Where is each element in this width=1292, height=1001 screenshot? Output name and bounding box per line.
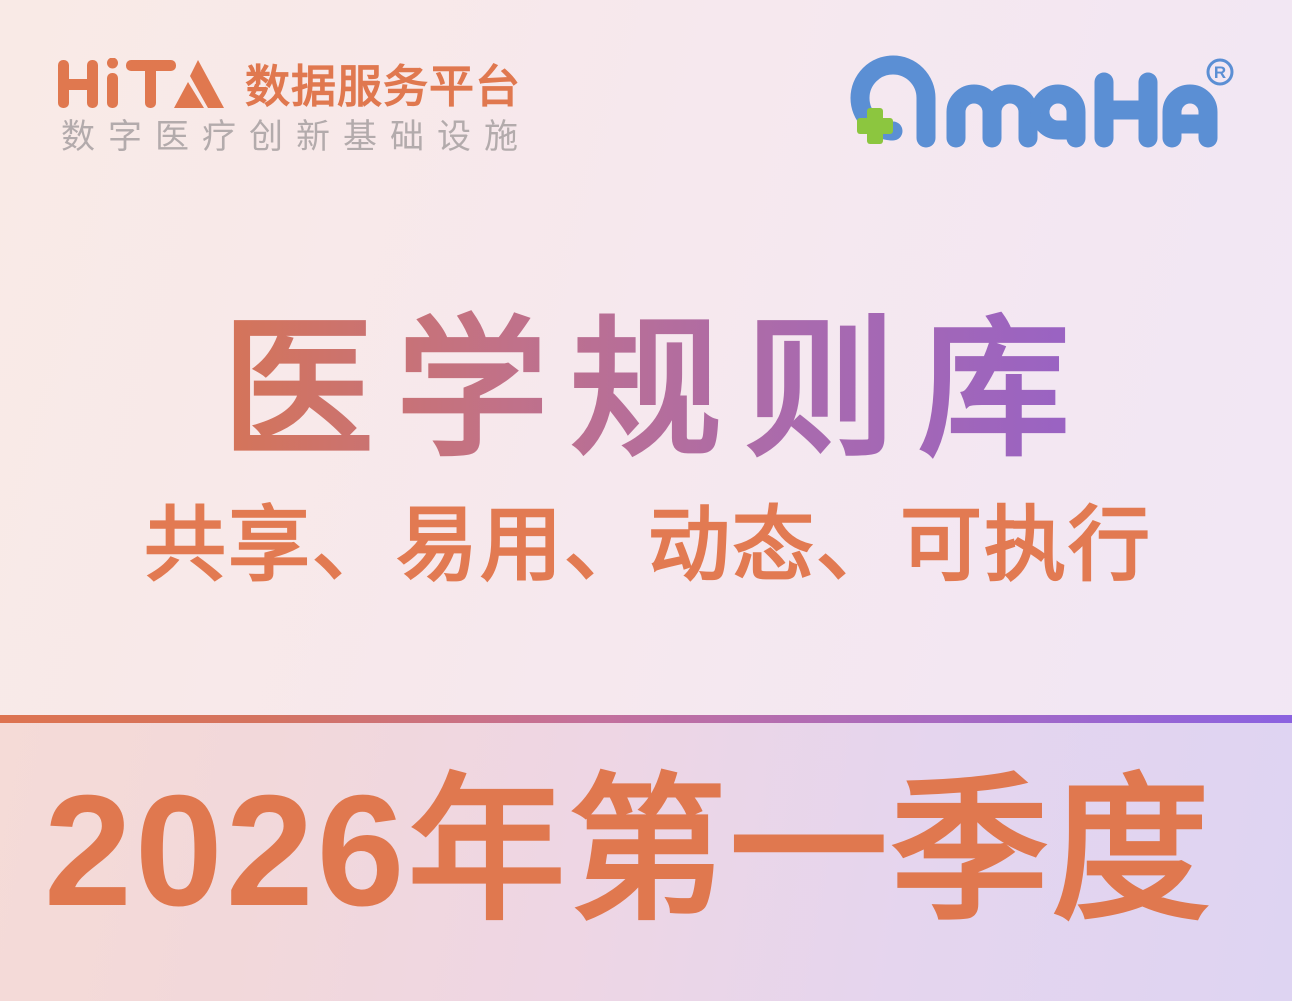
hita-logo-icon (58, 58, 228, 110)
hita-logo-lockup: 数据服务平台 数字医疗创新基础设施 (58, 48, 578, 164)
period-label: 2026年第一季度 (44, 751, 1213, 951)
hita-tagline: 数字医疗创新基础设施 (61, 114, 531, 160)
title-block: 医学规则库 共享、易用、动态、可执行 (0, 300, 1292, 598)
poster-canvas: 数据服务平台 数字医疗创新基础设施 (0, 0, 1292, 1001)
omaha-logo-lockup: R (848, 52, 1248, 162)
omaha-logo-icon: R (848, 52, 1248, 162)
poster-top-area: 数据服务平台 数字医疗创新基础设施 (0, 0, 1292, 722)
page-title: 医学规则库 (0, 300, 1292, 480)
registered-trademark-icon: R (1208, 60, 1232, 84)
footer-banner: 2026年第一季度 (0, 723, 1292, 1001)
gradient-divider (0, 715, 1292, 723)
svg-text:R: R (1214, 63, 1226, 82)
page-subtitle: 共享、易用、动态、可执行 (0, 494, 1292, 598)
hita-platform-name: 数据服务平台 (245, 64, 521, 110)
hita-logo-row: 数据服务平台 (58, 48, 521, 110)
